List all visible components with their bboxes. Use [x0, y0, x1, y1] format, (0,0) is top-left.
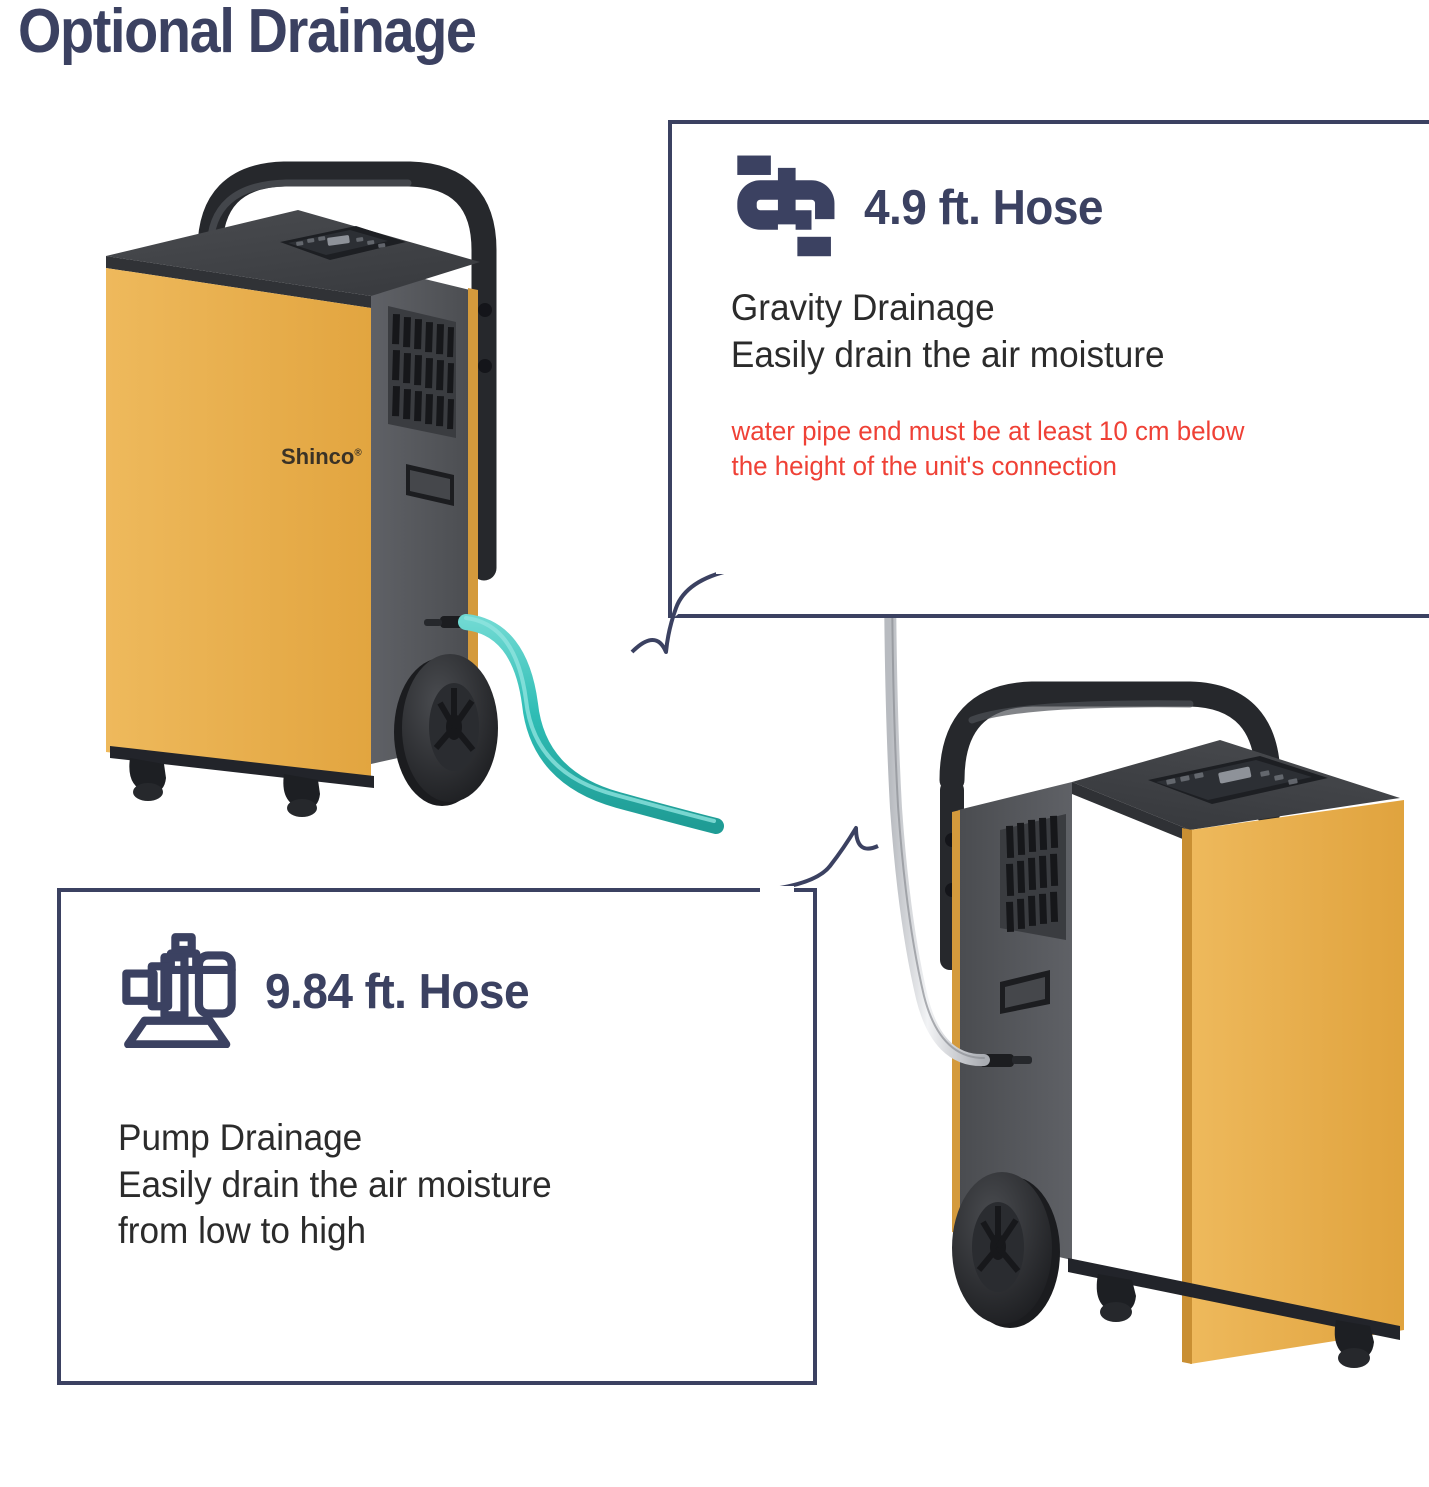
callout-pump-body: Pump Drainage Easily drain the air moist… [61, 1053, 775, 1255]
dehumidifier-unit-pump: Shinco® [860, 630, 1420, 1410]
callout-pump-headline: 9.84 ft. Hose [265, 964, 529, 1020]
drain-hose-gravity [466, 618, 716, 826]
pipe-elbow-icon [732, 152, 838, 263]
side-vent-pump [1000, 814, 1066, 940]
registered-mark: ® [354, 448, 361, 459]
callout-gravity-warning: water pipe end must be at least 10 cm be… [672, 378, 1404, 484]
callout-pump-drainage: 9.84 ft. Hose Pump Drainage Easily drain… [57, 888, 817, 1385]
page-title: Optional Drainage [18, 0, 476, 67]
callout-pump-body-line-3: from low to high [118, 1208, 775, 1255]
brand-logo-gravity: Shinco® [281, 444, 362, 470]
callout-gravity-warning-line-2: the height of the unit's connection [732, 449, 1404, 484]
callout-pump-body-line-1: Pump Drainage [118, 1115, 775, 1162]
callout-gravity-drainage: 4.9 ft. Hose Gravity Drainage Easily dra… [668, 120, 1429, 618]
callout-gravity-warning-line-1: water pipe end must be at least 10 cm be… [732, 414, 1404, 449]
callout-gravity-body-line-1: Gravity Drainage [731, 285, 1396, 332]
dehumidifier-unit-gravity: Shinco® [88, 138, 728, 838]
callout-gravity-body: Gravity Drainage Easily drain the air mo… [672, 263, 1396, 378]
brand-text: Shinco [281, 444, 354, 469]
callout-gravity-body-line-2: Easily drain the air moisture [731, 332, 1396, 379]
side-vent-gravity [388, 306, 456, 438]
callout-pump-body-line-2: Easily drain the air moisture [118, 1162, 775, 1209]
callout-gravity-headline: 4.9 ft. Hose [864, 180, 1103, 236]
water-pump-icon [119, 930, 239, 1053]
